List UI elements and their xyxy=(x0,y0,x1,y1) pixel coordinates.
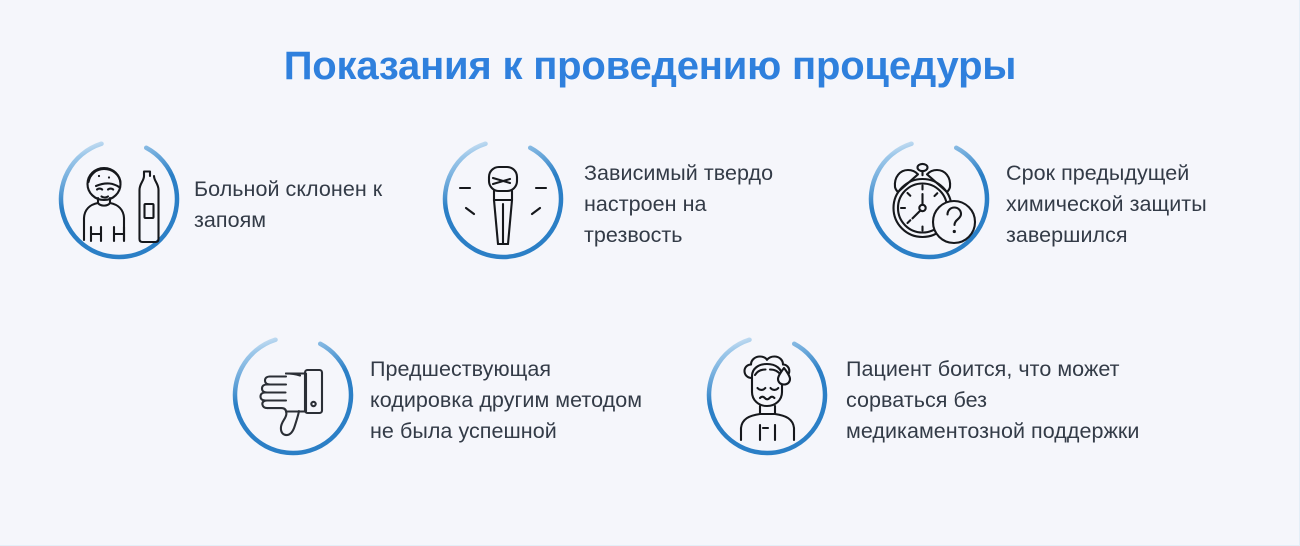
infographic-root: Показания к проведению процедуры xyxy=(0,0,1300,546)
page-title: Показания к проведению процедуры xyxy=(0,44,1300,88)
indication-item: Пациент боится, что может сорваться без … xyxy=(700,328,1206,462)
thumbs-down-icon xyxy=(226,328,360,462)
item-label: Срок предыдущей химической защиты заверш… xyxy=(1006,158,1256,251)
item-label: Зависимый твердо настроен на трезвость xyxy=(584,158,799,251)
worried-person-icon xyxy=(700,328,834,462)
alarm-clock-question-icon xyxy=(862,132,996,266)
person-with-bottle-icon xyxy=(52,132,186,266)
icon-ring-0 xyxy=(52,132,186,266)
indication-item: Зависимый твердо настроен на трезвость xyxy=(436,132,799,266)
icon-ring-4 xyxy=(700,328,834,462)
icon-ring-3 xyxy=(226,328,360,462)
indication-item: Срок предыдущей химической защиты заверш… xyxy=(862,132,1256,266)
determined-person-icon xyxy=(436,132,570,266)
item-label: Больной склонен к запоям xyxy=(194,174,429,236)
indication-item: Предшествующая кодировка другим методом … xyxy=(226,328,710,462)
icon-ring-1 xyxy=(436,132,570,266)
indication-item: Больной склонен к запоям xyxy=(52,132,429,266)
item-label: Пациент боится, что может сорваться без … xyxy=(846,354,1206,447)
item-label: Предшествующая кодировка другим методом … xyxy=(370,354,710,447)
icon-ring-2 xyxy=(862,132,996,266)
